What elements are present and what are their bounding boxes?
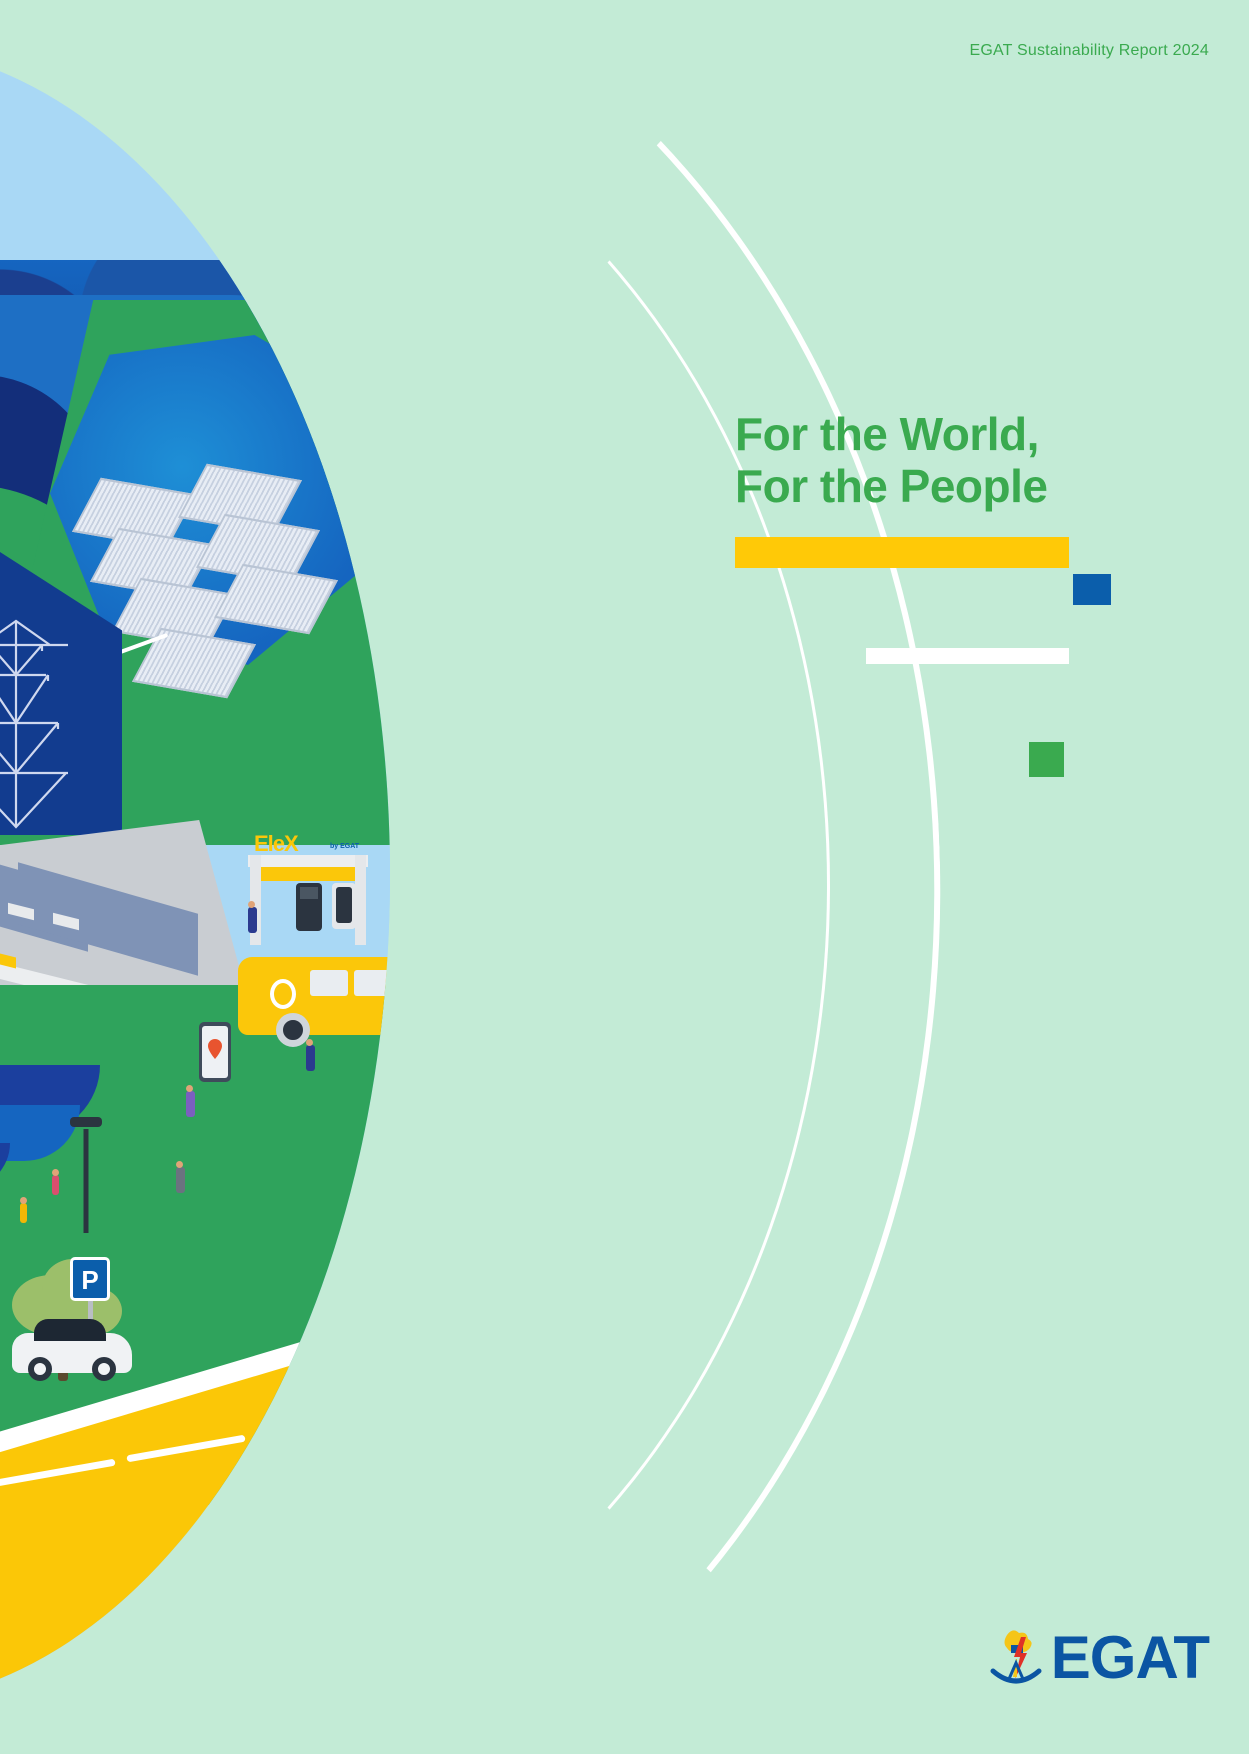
- elex-brand-label: EleX: [254, 831, 298, 857]
- illustration-collage: ⚡ P: [0, 45, 730, 1705]
- park-person: [52, 1175, 59, 1195]
- elex-brand-suffix: by EGAT: [330, 843, 359, 850]
- pedestrian: [248, 907, 257, 933]
- transmission-tower: [0, 601, 76, 831]
- mobile-app-icon: [198, 1021, 232, 1083]
- street-lamp: [66, 1113, 106, 1233]
- electric-car: [12, 1333, 132, 1373]
- sports-net: [0, 1237, 10, 1347]
- cover-title: For the World, For the People: [735, 408, 1215, 513]
- page-header-label: EGAT Sustainability Report 2024: [969, 42, 1209, 60]
- cover-title-line-2: For the People: [735, 460, 1215, 512]
- accent-bar-blue: [1073, 574, 1111, 605]
- pedestrian: [186, 1091, 195, 1117]
- accent-bar-white: [866, 648, 1069, 664]
- pedestrian: [176, 1167, 185, 1193]
- elex-charging-station: EleX by EGAT: [248, 835, 368, 945]
- egat-logo: EGAT: [987, 1623, 1209, 1692]
- accent-bar-yellow: [735, 537, 1069, 568]
- egat-bus-logo-icon: [270, 979, 296, 1009]
- report-cover-page: ⚡ P: [0, 0, 1249, 1754]
- egat-logo-text: EGAT: [1051, 1623, 1209, 1692]
- accent-square-green: [1029, 742, 1064, 777]
- park-person: [20, 1203, 27, 1223]
- pedestrian: [306, 1045, 315, 1071]
- electric-bus: [238, 957, 478, 1035]
- cover-title-line-1: For the World,: [735, 408, 1215, 460]
- egat-logo-mark-icon: [987, 1625, 1045, 1691]
